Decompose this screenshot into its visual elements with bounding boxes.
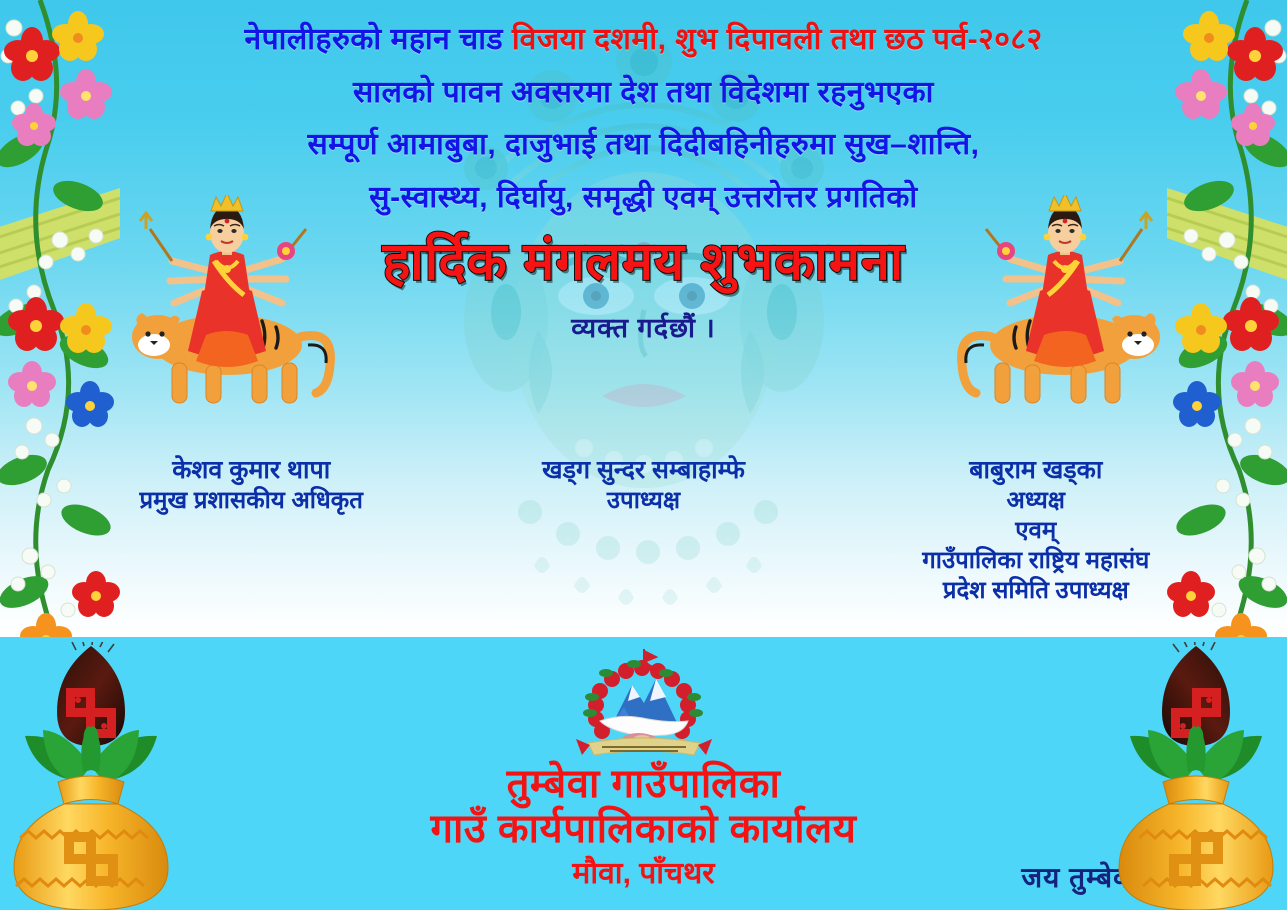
signatory-block-3: बाबुराम खड्का अध्यक्ष एवम् गाउँपालिका रा… <box>843 455 1229 606</box>
message-line-4: सु-स्वास्थ्य, दिर्घायु, समृद्धी एवम् उत्… <box>0 180 1287 217</box>
nepal-government-emblem <box>570 645 718 763</box>
org-line-2: गाउँ कार्यपालिकाको कार्यालय <box>0 807 1287 852</box>
signatory-name: खड्ग सुन्दर सम्बाहाम्फे <box>450 455 836 486</box>
bottom-banner: तुम्बेवा गाउँपालिका गाउँ कार्यपालिकाको क… <box>0 637 1287 910</box>
message-line-2: सालको पावन अवसरमा देश तथा विदेशमा रहनुभए… <box>0 75 1287 112</box>
message-line-1-blue: नेपालीहरुको महान चाड <box>244 23 511 56</box>
greeting-message: नेपालीहरुको महान चाड विजया दशमी, शुभ दिप… <box>0 22 1287 345</box>
org-line-1: तुम्बेवा गाउँपालिका <box>0 762 1287 807</box>
kalash-pot-right <box>1111 642 1281 910</box>
message-line-1-red: विजया दशमी, शुभ दिपावली तथा छठ पर्व-२०८२ <box>512 23 1043 56</box>
message-line-3: सम्पूर्ण आमाबुबा, दाजुभाई तथा दिदीबहिनीह… <box>0 127 1287 164</box>
signatory-title: प्रमुख प्रशासकीय अधिकृत <box>58 486 444 516</box>
signatory-title: गाउँपालिका राष्ट्रिय महासंघ <box>843 546 1229 576</box>
kalash-pot-left <box>6 642 176 910</box>
signatory-block-2: खड्ग सुन्दर सम्बाहाम्फे उपाध्यक्ष <box>450 455 836 516</box>
subhead-text: व्यक्त गर्दछौं । <box>0 308 1287 345</box>
signatory-row: केशव कुमार थापा प्रमुख प्रशासकीय अधिकृत … <box>0 455 1287 606</box>
signatory-title: प्रदेश समिति उपाध्यक्ष <box>843 576 1229 606</box>
signatory-title: उपाध्यक्ष <box>450 486 836 516</box>
greeting-card: नेपालीहरुको महान चाड विजया दशमी, शुभ दिप… <box>0 0 1287 910</box>
signatory-block-1: केशव कुमार थापा प्रमुख प्रशासकीय अधिकृत <box>58 455 444 516</box>
signatory-title: एवम् <box>843 516 1229 546</box>
signatory-name: केशव कुमार थापा <box>58 455 444 486</box>
message-line-1: नेपालीहरुको महान चाड विजया दशमी, शुभ दिप… <box>0 22 1287 59</box>
signatory-name: बाबुराम खड्का <box>843 455 1229 486</box>
signatory-title: अध्यक्ष <box>843 486 1229 516</box>
headline-text: हार्दिक मंगलमय शुभकामना <box>0 234 1287 291</box>
